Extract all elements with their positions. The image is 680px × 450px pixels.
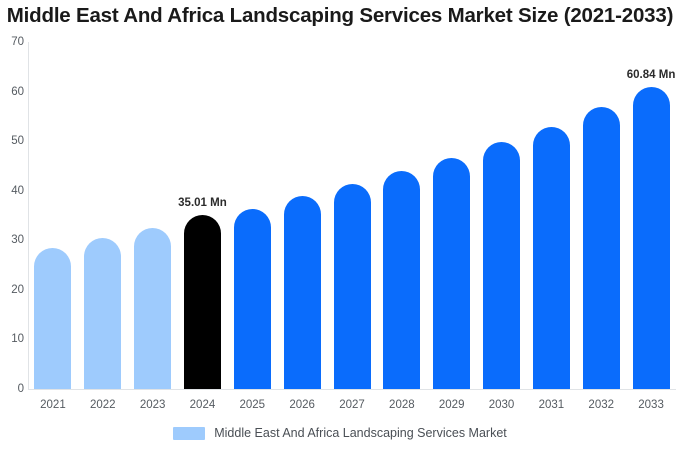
x-axis-tick-label: 2023 bbox=[128, 398, 178, 412]
x-axis-tick-label: 2025 bbox=[227, 398, 277, 412]
x-axis-tick-label: 2021 bbox=[28, 398, 78, 412]
y-axis-tick-label: 20 bbox=[0, 284, 24, 296]
y-axis-tick-label: 70 bbox=[0, 36, 24, 48]
y-axis-tick-label: 50 bbox=[0, 135, 24, 147]
y-axis-tick-label: 0 bbox=[0, 383, 24, 395]
y-axis-tick-labels: 010203040506070 bbox=[0, 0, 24, 450]
bar-2023[interactable] bbox=[134, 228, 171, 389]
chart-title: Middle East And Africa Landscaping Servi… bbox=[0, 2, 680, 30]
bar-2021[interactable] bbox=[34, 248, 71, 389]
bar-2026[interactable] bbox=[284, 196, 321, 389]
x-axis-tick-label: 2026 bbox=[277, 398, 327, 412]
x-axis-tick-label: 2030 bbox=[477, 398, 527, 412]
bar-2027[interactable] bbox=[334, 184, 371, 389]
legend-swatch-icon bbox=[173, 427, 205, 440]
y-axis-tick-label: 40 bbox=[0, 185, 24, 197]
x-axis-tick-label: 2032 bbox=[576, 398, 626, 412]
x-axis-line bbox=[28, 389, 676, 390]
x-axis-tick-label: 2029 bbox=[427, 398, 477, 412]
y-axis-tick-label: 30 bbox=[0, 234, 24, 246]
chart-legend: Middle East And Africa Landscaping Servi… bbox=[0, 426, 680, 440]
data-label-2033: 60.84 Mn bbox=[601, 69, 680, 82]
x-axis-tick-label: 2024 bbox=[177, 398, 227, 412]
legend-item[interactable]: Middle East And Africa Landscaping Servi… bbox=[173, 426, 507, 440]
bar-chart: Middle East And Africa Landscaping Servi… bbox=[0, 0, 680, 450]
x-axis-tick-label: 2028 bbox=[377, 398, 427, 412]
x-axis-tick-labels: 2021202220232024202520262027202820292030… bbox=[28, 398, 676, 416]
bar-2030[interactable] bbox=[483, 142, 520, 389]
y-axis-tick-label: 60 bbox=[0, 86, 24, 98]
bar-2031[interactable] bbox=[533, 127, 570, 389]
bar-2025[interactable] bbox=[234, 209, 271, 389]
bar-2029[interactable] bbox=[433, 158, 470, 389]
data-label-2024: 35.01 Mn bbox=[152, 197, 252, 210]
x-axis-tick-label: 2031 bbox=[526, 398, 576, 412]
bar-2028[interactable] bbox=[383, 171, 420, 389]
x-axis-tick-label: 2022 bbox=[78, 398, 128, 412]
bar-2022[interactable] bbox=[84, 238, 121, 389]
bar-2033[interactable] bbox=[633, 87, 670, 389]
y-axis-tick-label: 10 bbox=[0, 333, 24, 345]
bar-2024[interactable] bbox=[184, 215, 221, 389]
bars-container bbox=[28, 42, 676, 389]
x-axis-tick-label: 2033 bbox=[626, 398, 676, 412]
bar-2032[interactable] bbox=[583, 107, 620, 389]
x-axis-tick-label: 2027 bbox=[327, 398, 377, 412]
legend-label: Middle East And Africa Landscaping Servi… bbox=[214, 426, 507, 440]
